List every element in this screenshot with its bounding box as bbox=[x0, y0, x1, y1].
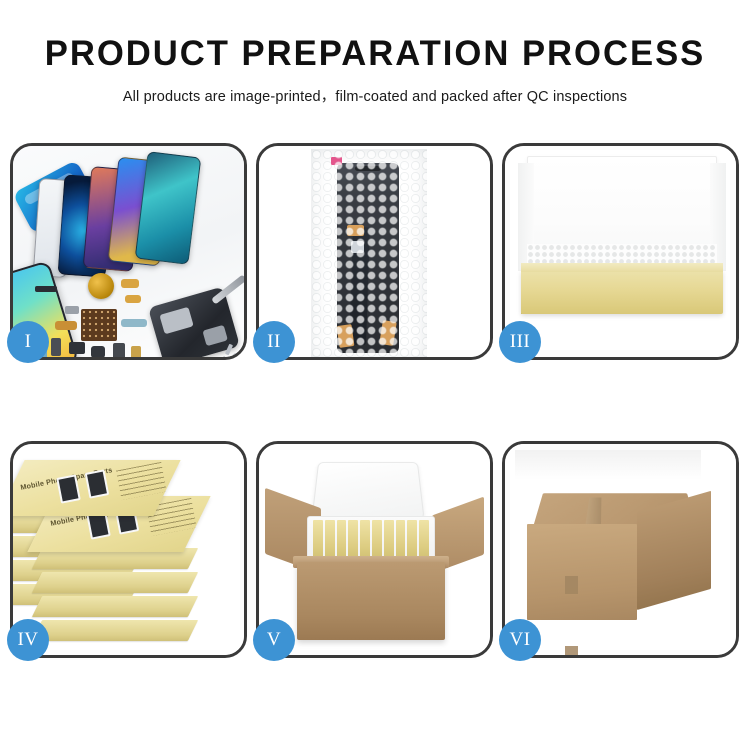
part-bracket bbox=[65, 306, 79, 314]
part-speaker bbox=[91, 346, 105, 357]
step-image-raw-parts bbox=[13, 146, 244, 357]
part-flex-cable-b bbox=[125, 295, 141, 303]
page-title: PRODUCT PREPARATION PROCESS bbox=[4, 36, 747, 71]
yellow-kraft-tray bbox=[521, 270, 723, 314]
foam-lid-open bbox=[311, 462, 424, 520]
adhesive-pad-left bbox=[337, 324, 355, 348]
connector-shield bbox=[351, 241, 364, 253]
step-image-cartoned-boxes bbox=[259, 444, 490, 655]
pink-qc-label bbox=[331, 157, 342, 165]
step-panel-6: VI bbox=[502, 441, 739, 658]
sealed-shipping-carton bbox=[521, 472, 717, 622]
part-connector bbox=[35, 286, 57, 292]
copper-coil-part bbox=[88, 273, 114, 299]
step-image-sealed-carton bbox=[505, 444, 736, 655]
part-flex-cable-c bbox=[55, 321, 77, 330]
adhesive-pad-top bbox=[347, 225, 364, 236]
carton-right-face bbox=[637, 491, 711, 610]
step-image-foam-lined-box bbox=[505, 146, 736, 357]
phone-screen-teal bbox=[135, 151, 202, 265]
step-image-bubble-wrapped-screen bbox=[259, 146, 490, 357]
step-panel-4: Mobile Phone Spare Parts Mobile Phone Sp… bbox=[10, 441, 247, 658]
screw-3 bbox=[215, 356, 226, 357]
screw-2 bbox=[232, 353, 241, 357]
part-vibrator bbox=[113, 343, 125, 357]
stacked-box-right-3 bbox=[32, 596, 198, 617]
phone-backplate bbox=[148, 286, 240, 357]
stacked-box-right-4 bbox=[32, 620, 198, 641]
header: PRODUCT PREPARATION PROCESS All products… bbox=[0, 0, 750, 106]
retail-box-lid-top: Mobile Phone Spare Parts bbox=[13, 460, 181, 516]
page-subtitle: All products are image-printed，film-coat… bbox=[0, 85, 750, 106]
step-badge-5: V bbox=[253, 619, 295, 661]
step-badge-4: IV bbox=[7, 619, 49, 661]
retail-box-stack: Mobile Phone Spare Parts Mobile Phone Sp… bbox=[13, 460, 244, 650]
product-preparation-infographic: PRODUCT PREPARATION PROCESS All products… bbox=[0, 0, 750, 750]
step-badge-2: II bbox=[253, 321, 295, 363]
carton-body bbox=[297, 562, 445, 640]
bubble-wrap-bag bbox=[311, 149, 427, 357]
part-flex-cable-d bbox=[121, 319, 147, 327]
part-sim-tray bbox=[131, 346, 141, 357]
packing-tape-front-upper bbox=[565, 576, 578, 594]
step-badge-1: I bbox=[7, 321, 49, 363]
part-flex-cable-a bbox=[121, 279, 139, 288]
chip-array-part bbox=[81, 309, 117, 341]
box-spec-lines-top bbox=[116, 462, 167, 500]
stacked-box-right-2 bbox=[32, 572, 198, 593]
step-image-stacked-retail-boxes: Mobile Phone Spare Parts Mobile Phone Sp… bbox=[13, 444, 244, 655]
steps-grid: I II bbox=[10, 143, 740, 673]
part-camera-module bbox=[69, 342, 85, 354]
step-badge-3: III bbox=[499, 321, 541, 363]
step-panel-3: III bbox=[502, 143, 739, 360]
packing-tape-front-lower bbox=[565, 646, 578, 655]
step-panel-2: II bbox=[256, 143, 493, 360]
step-badge-6: VI bbox=[499, 619, 541, 661]
carton-front-face bbox=[527, 524, 637, 620]
step-panel-5: V bbox=[256, 441, 493, 658]
step-panel-1: I bbox=[10, 143, 247, 360]
part-button bbox=[51, 338, 61, 356]
